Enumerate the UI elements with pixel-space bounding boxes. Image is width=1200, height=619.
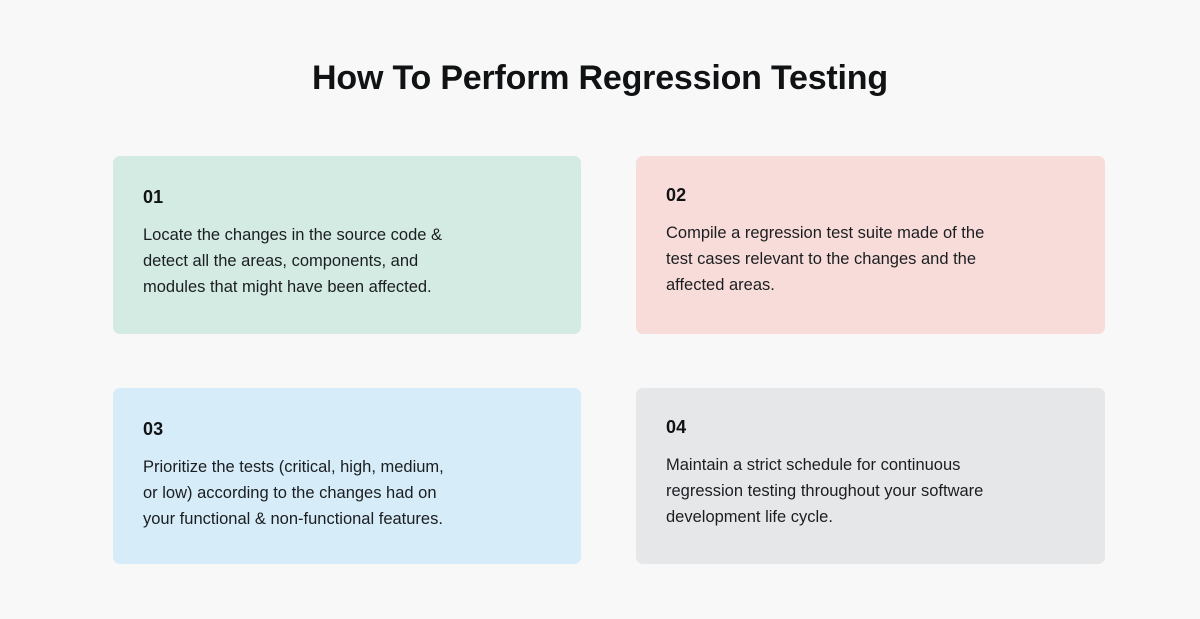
step-number-02: 02 <box>666 184 1077 206</box>
page-title: How To Perform Regression Testing <box>0 56 1200 100</box>
step-number-01: 01 <box>143 186 553 208</box>
step-card-02: 02 Compile a regression test suite made … <box>636 156 1105 334</box>
step-number-04: 04 <box>666 416 1077 438</box>
step-card-01: 01 Locate the changes in the source code… <box>113 156 581 334</box>
step-number-03: 03 <box>143 418 553 440</box>
step-description-04: Maintain a strict schedule for continuou… <box>666 452 1058 530</box>
steps-card-grid: 01 Locate the changes in the source code… <box>113 156 1105 564</box>
step-card-03: 03 Prioritize the tests (critical, high,… <box>113 388 581 564</box>
step-card-04: 04 Maintain a strict schedule for contin… <box>636 388 1105 564</box>
step-description-03: Prioritize the tests (critical, high, me… <box>143 454 503 532</box>
infographic-page: How To Perform Regression Testing 01 Loc… <box>0 0 1200 619</box>
step-description-02: Compile a regression test suite made of … <box>666 220 1058 298</box>
step-description-01: Locate the changes in the source code & … <box>143 222 503 300</box>
